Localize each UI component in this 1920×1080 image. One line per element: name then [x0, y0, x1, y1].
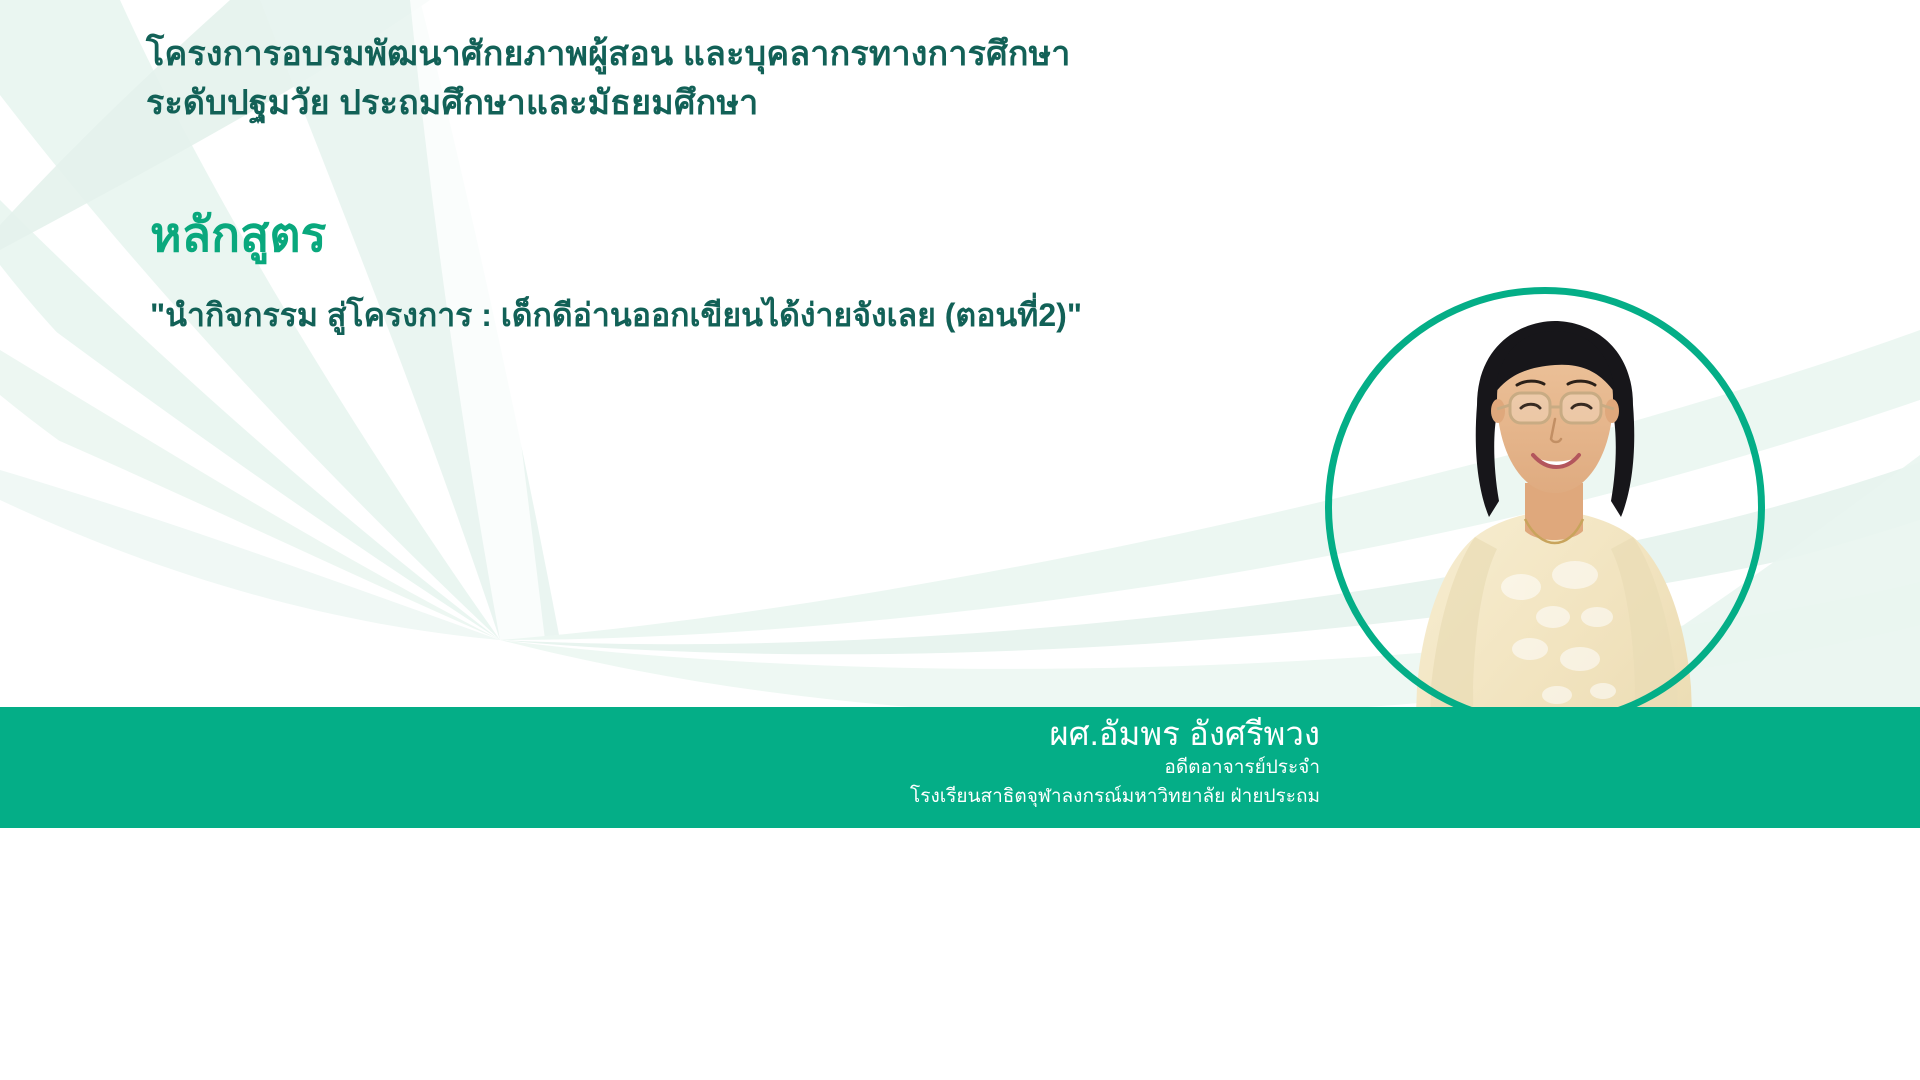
headline-block: โครงการอบรมพัฒนาศักยภาพผู้สอน และบุคลากร…: [146, 30, 1246, 129]
curriculum-label: หลักสูตร: [150, 212, 326, 260]
speaker-role: อดีตอาจารย์ประจำ: [420, 754, 1320, 783]
poster-canvas: โครงการอบรมพัฒนาศักยภาพผู้สอน และบุคลากร…: [0, 0, 1920, 1080]
speaker-name: ผศ.อัมพร อังศรีพวง: [420, 713, 1320, 754]
speaker-info: ผศ.อัมพร อังศรีพวง อดีตอาจารย์ประจำ โรงเ…: [420, 713, 1320, 811]
speaker-affiliation: โรงเรียนสาธิตจุฬาลงกรณ์มหาวิทยาลัย ฝ่ายป…: [420, 783, 1320, 812]
headline-line-1: โครงการอบรมพัฒนาศักยภาพผู้สอน และบุคลากร…: [146, 30, 1246, 79]
headline-line-2: ระดับปฐมวัย ประถมศึกษาและมัธยมศึกษา: [146, 79, 1246, 128]
footer: SAKDIBHORNSSUP FOUNDATION มูลนิธิศักดิ์พ…: [0, 828, 1920, 1080]
portrait-ring: [1325, 287, 1765, 727]
course-title: "นำกิจกรรม สู่โครงการ : เด็กดีอ่านออกเขี…: [150, 295, 1300, 337]
